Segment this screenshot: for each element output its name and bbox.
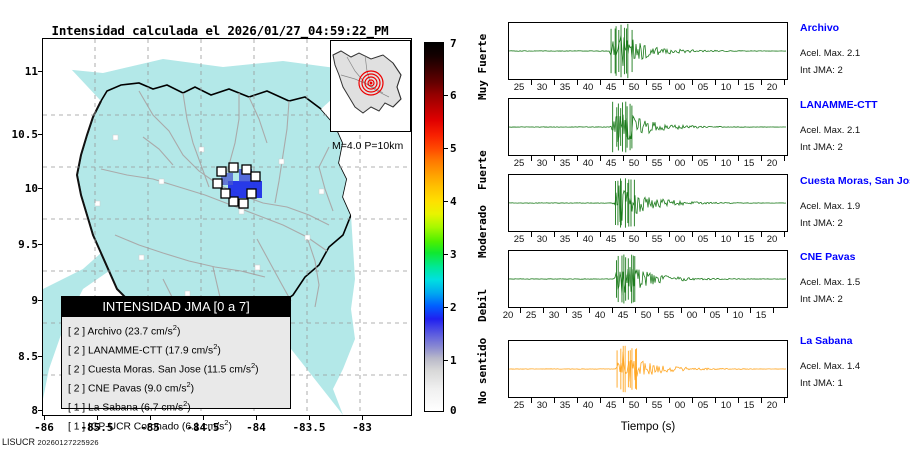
agency-label: LISUCR [2, 437, 35, 447]
tick-label: 20 [762, 400, 782, 411]
intensity-colorbar[interactable] [424, 42, 444, 412]
legend-accel: (23.7 cm/s [125, 326, 173, 337]
tick-label: 45 [601, 234, 621, 245]
waveform-trace [509, 23, 787, 79]
waveform-tick-labels-4: 25 30 35 40 45 50 55 00 05 10 15 20 [498, 400, 798, 412]
tick-label: 55 [659, 310, 679, 321]
tick-label: 10 [716, 158, 736, 169]
waveform-x-axis-label: Tiempo (s) [508, 421, 788, 433]
lat-label: 8 [2, 404, 38, 417]
legend-jma: [ 2 ] [68, 364, 85, 375]
legend-station: La Sabana [88, 402, 138, 413]
station-accel-archivo: Acel. Max. 2.1 [800, 48, 860, 59]
tick-label: 35 [555, 234, 575, 245]
tick-label: 45 [601, 158, 621, 169]
legend-jma: [ 2 ] [68, 345, 85, 356]
magnitude-depth-note: M=4.0 P=10km [332, 140, 403, 152]
waveform-tick-labels-2: 25 30 35 40 45 50 55 00 05 10 15 20 [498, 234, 798, 246]
legend-accel: (11.5 cm/s [204, 364, 251, 375]
legend-paren: ) [217, 345, 220, 356]
waveform-trace [509, 175, 787, 231]
tick-label: 45 [613, 310, 633, 321]
legend-paren: ) [177, 326, 180, 337]
tick-label: 50 [624, 158, 644, 169]
station-accel-lanamme-ctt: Acel. Max. 2.1 [800, 125, 860, 136]
colorbar-category-muy-fuerte: Muy Fuerte [476, 34, 489, 100]
lat-label: 8.5 [2, 350, 38, 363]
legend-paren: ) [255, 364, 258, 375]
legend-jma: [ 2 ] [68, 383, 85, 394]
lat-label: 10.5 [2, 128, 38, 141]
tick-label: 30 [532, 158, 552, 169]
station-jma-la-sabana: Int JMA: 1 [800, 378, 843, 389]
tick-label: 30 [532, 400, 552, 411]
tick-label: 20 [762, 234, 782, 245]
tick-label: 35 [567, 310, 587, 321]
tick-label: 00 [670, 82, 690, 93]
footer-watermark: LISUCR 20260127225926 [2, 437, 99, 447]
station-name-la-sabana: La Sabana [800, 335, 853, 347]
lat-label: 9 [2, 294, 38, 307]
lat-label: 9.5 [2, 238, 38, 251]
tick-label: 35 [555, 400, 575, 411]
tick-label: 55 [647, 234, 667, 245]
tick-label: 25 [509, 400, 529, 411]
station-jma-cne-pavas: Int JMA: 2 [800, 294, 843, 305]
legend-title: INTENSIDAD JMA [0 a 7] [62, 297, 290, 317]
station-name-archivo: Archivo [800, 22, 839, 34]
lon-label: -83.5 [287, 421, 331, 434]
tick-label: 40 [578, 234, 598, 245]
lon-label: -83 [340, 421, 384, 434]
tick-label: 20 [498, 310, 518, 321]
colorbar-tick: 7 [450, 37, 464, 50]
colorbar-category-moderado: Moderado [476, 205, 489, 258]
legend-station-list: [ 2 ] Archivo (23.7 cm/s2) [ 2 ] LANAMME… [62, 317, 290, 435]
tick-label: 25 [521, 310, 541, 321]
tick-label: 35 [555, 82, 575, 93]
legend-accel: (6.7 cm/s [141, 402, 183, 413]
legend-jma: [ 1 ] [68, 421, 85, 432]
tick-label: 05 [705, 310, 725, 321]
waveform-panel-lanamme-ctt[interactable] [508, 98, 788, 156]
tick-label: 10 [728, 310, 748, 321]
colorbar-tick: 5 [450, 142, 464, 155]
tick-label: 20 [762, 82, 782, 93]
tick-label: 45 [601, 400, 621, 411]
tick-label: 25 [509, 158, 529, 169]
tick-label: 50 [624, 82, 644, 93]
tick-label: 00 [670, 234, 690, 245]
waveform-panel-la-sabana[interactable] [508, 340, 788, 398]
colorbar-tick: 4 [450, 195, 464, 208]
colorbar-category-no-sentido: No sentido [476, 338, 489, 404]
tick-label: 15 [739, 400, 759, 411]
tick-label: 05 [693, 400, 713, 411]
tick-label: 40 [578, 158, 598, 169]
legend-accel: (17.9 cm/s [165, 345, 213, 356]
tick-label: 55 [647, 82, 667, 93]
tick-label: 50 [624, 234, 644, 245]
list-item: [ 2 ] LANAMME-CTT (17.9 cm/s2) [68, 340, 290, 359]
tick-label: 10 [716, 82, 736, 93]
station-accel-cne-pavas: Acel. Max. 1.5 [800, 277, 860, 288]
list-item: [ 2 ] CNE Pavas (9.0 cm/s2) [68, 378, 290, 397]
legend-jma: [ 1 ] [68, 402, 85, 413]
legend-station: ICP-UCR Coronado [88, 421, 179, 432]
colorbar-category-fuerte: Fuerte [476, 150, 489, 190]
legend-paren: ) [187, 402, 190, 413]
waveform-tick-labels-1: 25 30 35 40 45 50 55 00 05 10 15 20 [498, 158, 798, 170]
tick-label: 50 [636, 310, 656, 321]
lat-label: 10 [2, 182, 38, 195]
station-name-lanamme-ctt: LANAMME-CTT [800, 99, 878, 111]
timestamp-code: 20260127225926 [38, 438, 99, 447]
station-name-cuesta-moras: Cuesta Moras, San Jose [800, 175, 910, 187]
inset-graphics [331, 41, 410, 131]
waveform-tick-labels-3: 20 25 30 35 40 45 50 55 00 05 10 15 [498, 310, 798, 322]
list-item: [ 1 ] ICP-UCR Coronado (6.1 cm/s2) [68, 416, 290, 435]
legend-accel: (9.0 cm/s [144, 383, 186, 394]
legend-paren: ) [191, 383, 194, 394]
tick-label: 30 [532, 234, 552, 245]
waveform-trace [509, 341, 787, 397]
legend-paren: ) [228, 421, 231, 432]
waveform-trace [509, 251, 787, 307]
tick-label: 05 [693, 234, 713, 245]
tick-label: 10 [716, 400, 736, 411]
station-accel-la-sabana: Acel. Max. 1.4 [800, 361, 860, 372]
tick-label: 15 [739, 82, 759, 93]
station-name-cne-pavas: CNE Pavas [800, 251, 855, 263]
tick-label: 10 [716, 234, 736, 245]
tick-label: 50 [624, 400, 644, 411]
lon-label: -86 [22, 421, 66, 434]
jma-intensity-legend[interactable]: INTENSIDAD JMA [0 a 7] [ 2 ] Archivo (23… [61, 296, 291, 409]
waveform-trace [509, 99, 787, 155]
tick-label: 00 [670, 400, 690, 411]
tick-label: 40 [590, 310, 610, 321]
waveform-panel-cne-pavas[interactable] [508, 250, 788, 308]
waveform-panel-archivo[interactable] [508, 22, 788, 80]
legend-station: CNE Pavas [88, 383, 141, 394]
tick-label: 15 [739, 234, 759, 245]
list-item: [ 2 ] Cuesta Moras. San Jose (11.5 cm/s2… [68, 359, 290, 378]
colorbar-tick: 6 [450, 89, 464, 102]
tick-label: 30 [532, 82, 552, 93]
tick-label: 25 [509, 234, 529, 245]
list-item: [ 2 ] Archivo (23.7 cm/s2) [68, 321, 290, 340]
legend-station: LANAMME-CTT [88, 345, 162, 356]
station-jma-archivo: Int JMA: 2 [800, 65, 843, 76]
tick-label: 40 [578, 82, 598, 93]
legend-jma: [ 2 ] [68, 326, 85, 337]
tick-label: 55 [647, 158, 667, 169]
waveform-tick-labels-0: 25 30 35 40 45 50 55 00 05 10 15 20 [498, 82, 798, 94]
tick-label: 05 [693, 158, 713, 169]
colorbar-tick: 0 [450, 404, 464, 417]
colorbar-tick: 3 [450, 248, 464, 261]
colorbar-tick: 2 [450, 301, 464, 314]
legend-station: Cuesta Moras. San Jose [88, 364, 201, 375]
list-item: [ 1 ] La Sabana (6.7 cm/s2) [68, 397, 290, 416]
locator-inset-map[interactable] [330, 40, 411, 132]
tick-label: 15 [739, 158, 759, 169]
tick-label: 00 [670, 158, 690, 169]
waveform-panel-cuesta-moras[interactable] [508, 174, 788, 232]
legend-accel: (6.1 cm/s [182, 421, 224, 432]
tick-label: 55 [647, 400, 667, 411]
tick-label: 15 [751, 310, 771, 321]
tick-label: 45 [601, 82, 621, 93]
station-accel-cuesta-moras: Acel. Max. 1.9 [800, 201, 860, 212]
tick-label: 40 [578, 400, 598, 411]
tick-label: 05 [693, 82, 713, 93]
tick-label: 30 [544, 310, 564, 321]
lat-label: 11 [2, 65, 38, 78]
colorbar-category-debil: Debil [476, 289, 489, 322]
tick-label: 00 [682, 310, 702, 321]
station-jma-cuesta-moras: Int JMA: 2 [800, 218, 843, 229]
tick-label: 25 [509, 82, 529, 93]
station-jma-lanamme-ctt: Int JMA: 2 [800, 142, 843, 153]
legend-station: Archivo [87, 326, 121, 337]
tick-label: 20 [762, 158, 782, 169]
colorbar-tick: 1 [450, 354, 464, 367]
tick-label: 35 [555, 158, 575, 169]
page-title: Intensidad calculada el 2026/01/27_04:59… [0, 23, 440, 38]
